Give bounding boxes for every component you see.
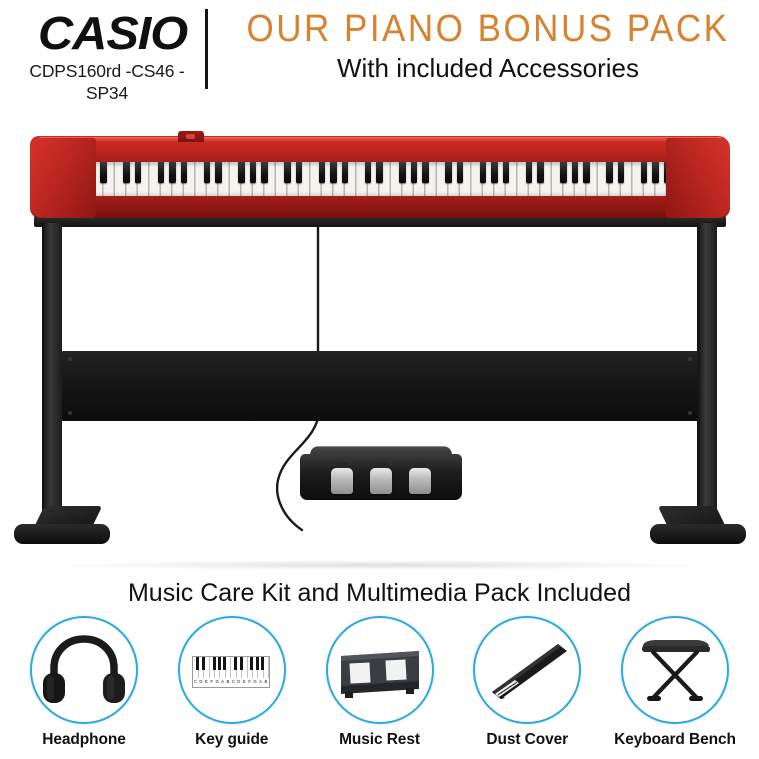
digital-piano [30, 136, 730, 221]
accessory-dust-cover: Dust Cover [457, 616, 597, 746]
stand-foot-left [14, 506, 110, 546]
accessory-circle [473, 616, 581, 724]
accessory-circle [621, 616, 729, 724]
pedal-soft [331, 468, 353, 494]
stand-leg-right [697, 223, 717, 518]
accessory-key-guide: CDEFGABCDEFGAB Key guide [162, 616, 302, 746]
piano-top-panel [30, 136, 730, 162]
stand-crossbar [62, 351, 698, 421]
black-keys [92, 162, 692, 183]
stand-leg-left [42, 223, 62, 518]
piano-front-panel [30, 196, 730, 218]
stand-foot-right [650, 506, 746, 546]
piano-control-indicator [186, 134, 195, 139]
accessory-music-rest: Music Rest [310, 616, 450, 746]
accessory-circle [326, 616, 434, 724]
music-rest-icon [328, 618, 432, 722]
casio-logo: CASIO [14, 8, 211, 58]
accessory-circle [30, 616, 138, 724]
key-guide-note-letters: CDEFGABCDEFGAB [193, 677, 269, 687]
accessories-section-title: Music Care Kit and Multimedia Pack Inclu… [0, 578, 759, 608]
accessory-label: Dust Cover [457, 730, 597, 749]
accessory-label: Music Rest [310, 730, 450, 749]
piano-right-end-cap [666, 138, 730, 218]
accessory-label: Headphone [14, 730, 154, 749]
key-guide-note: B [263, 677, 268, 687]
product-shadow [40, 560, 720, 570]
key-guide-icon: CDEFGABCDEFGAB [192, 656, 270, 688]
headline: OUR PIANO BONUS PACK [228, 6, 748, 51]
header-banner: CASIO CDPS160rd -CS46 -SP34 OUR PIANO BO… [0, 0, 759, 108]
accessory-circle: CDEFGABCDEFGAB [178, 616, 286, 724]
header-divider [205, 9, 208, 89]
model-number: CDPS160rd -CS46 -SP34 [14, 60, 200, 104]
pedal-damper [409, 468, 431, 494]
accessory-keyboard-bench: Keyboard Bench [605, 616, 745, 746]
brand-block: CASIO CDPS160rd -CS46 -SP34 [14, 8, 200, 104]
dust-cover-icon [475, 618, 579, 722]
piano-keys [92, 162, 692, 198]
three-pedal-unit [300, 446, 462, 506]
piano-left-end-cap [30, 138, 96, 218]
headline-block: OUR PIANO BONUS PACK With included Acces… [228, 8, 748, 84]
subheadline: With included Accessories [228, 52, 748, 84]
accessory-label: Key guide [162, 730, 302, 749]
keyboard-bench-icon [623, 618, 727, 722]
headphone-icon [32, 618, 136, 722]
accessories-row: Headphone CDEFGABCDEFGAB [0, 616, 759, 746]
hero-product-photo [0, 108, 759, 568]
accessory-headphone: Headphone [14, 616, 154, 746]
pedal-sostenuto [370, 468, 392, 494]
accessory-label: Keyboard Bench [605, 730, 745, 749]
product-marketing-image: CASIO CDPS160rd -CS46 -SP34 OUR PIANO BO… [0, 0, 759, 759]
